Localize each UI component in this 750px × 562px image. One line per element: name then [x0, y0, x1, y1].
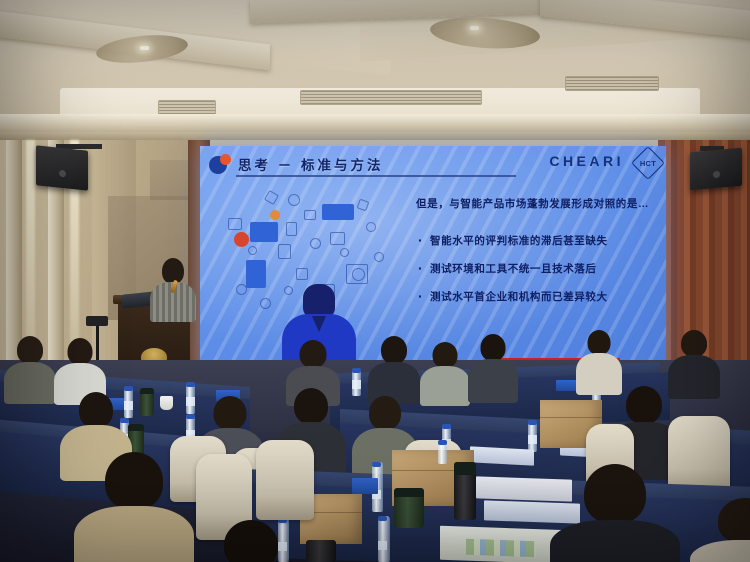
- water-bottle: [528, 420, 537, 452]
- attendee-head: [481, 334, 506, 361]
- attendee-head: [214, 396, 247, 430]
- attendee: [4, 336, 56, 398]
- attendee: [368, 336, 420, 398]
- thermos: [394, 488, 424, 528]
- bottle-cap: [186, 382, 195, 387]
- air-vent: [158, 100, 216, 115]
- cart-icon: [357, 199, 370, 212]
- water-bottle: [438, 440, 447, 464]
- attendee-foreground: [550, 464, 680, 562]
- bottle-cap: [124, 386, 133, 391]
- attendee: [576, 330, 622, 390]
- air-vent: [300, 90, 482, 105]
- clock-icon: [374, 252, 384, 262]
- dot-icon: [270, 210, 280, 220]
- sensor-icon: [340, 248, 349, 257]
- attendee-head: [681, 330, 707, 357]
- name-card: [556, 380, 578, 391]
- ceiling-speaker: [36, 145, 88, 190]
- user-icon: [260, 298, 271, 309]
- person-head: [303, 284, 335, 318]
- cheari-logo-text: CHEARI: [549, 153, 624, 169]
- attendee-head: [433, 342, 458, 368]
- attendee-torso: [74, 506, 194, 562]
- slide-bullet: 测试环境和工具不统一且技术落后: [416, 262, 660, 277]
- attendee-torso: [550, 520, 680, 562]
- attendee-head: [626, 386, 662, 424]
- phone-icon: [278, 244, 291, 259]
- camera-icon: [296, 268, 308, 280]
- attendee: [468, 334, 518, 396]
- attendee-head: [588, 330, 611, 355]
- wall-light-strip: [26, 140, 35, 355]
- attendee-head: [718, 498, 750, 544]
- attendee-head: [17, 336, 43, 364]
- slide-bullet: 智能水平的评判标准的滞后甚至缺失: [416, 234, 660, 249]
- thermos-lid: [140, 388, 154, 394]
- bottle-cap: [372, 462, 381, 467]
- crown-molding: [0, 114, 750, 134]
- tea-cup: [160, 396, 173, 410]
- outlet-icon: [330, 232, 345, 245]
- handout-chart: [466, 539, 536, 557]
- attendee-foreground: [196, 520, 306, 562]
- attendee-head: [224, 520, 278, 562]
- star-icon: [264, 190, 279, 205]
- wifi-icon: [236, 284, 247, 295]
- attendee-foreground: [74, 452, 194, 562]
- remote-icon: [286, 222, 297, 236]
- attendee-head: [105, 452, 163, 510]
- bottle-label: [378, 541, 387, 550]
- attendee-head: [294, 388, 328, 424]
- router-icon: [304, 210, 316, 220]
- bottle-label: [186, 397, 195, 406]
- chair: [256, 440, 314, 520]
- wall-alcove: [150, 160, 190, 200]
- washer-drum-icon: [352, 268, 365, 281]
- bottle-cap: [378, 516, 387, 521]
- bottle-cap: [442, 424, 451, 429]
- bottle-cap: [438, 440, 447, 445]
- ceiling-light: [470, 26, 479, 30]
- air-vent: [565, 76, 659, 91]
- slide-logo-dot-red: [220, 154, 231, 165]
- conference-room-photo: 思考 － 标准与方法 CHEARI HCT: [0, 0, 750, 562]
- slide-lead-text: 但是，与智能产品市场蓬勃发展形成对照的是…: [416, 196, 654, 213]
- water-bottle: [186, 382, 195, 414]
- attendee-head: [381, 336, 407, 364]
- attendee-head: [369, 396, 401, 430]
- hct-label: HCT: [636, 151, 660, 175]
- ceiling: [0, 0, 750, 150]
- slide-title: 思考 － 标准与方法: [238, 154, 384, 174]
- bottle-cap: [186, 414, 195, 419]
- refrigerator-icon: [246, 260, 266, 288]
- name-card: [352, 478, 378, 494]
- bottle-cap: [528, 420, 537, 425]
- bulb-icon: [310, 238, 321, 249]
- attendee: [668, 330, 720, 392]
- bottle-label: [352, 380, 361, 389]
- equipment-head: [86, 316, 108, 326]
- thermos-lid: [454, 462, 476, 475]
- attendee-head: [300, 340, 327, 368]
- slide-bullet-list: 智能水平的评判标准的滞后甚至缺失 测试环境和工具不统一且技术落后 测试水平首企业…: [416, 234, 660, 318]
- slide-bullet: 测试水平首企业和机构而已差异较大: [416, 290, 660, 305]
- thermos: [140, 388, 154, 416]
- doc-icon: [228, 218, 242, 230]
- attendee-torso: [420, 366, 470, 406]
- slide-title-underline: [236, 175, 516, 177]
- box-seam: [540, 417, 602, 418]
- attendee-head: [584, 464, 646, 524]
- lock-icon: [248, 246, 257, 255]
- air-conditioner-icon: [322, 204, 354, 220]
- search-icon: [288, 194, 300, 206]
- water-bottle: [352, 368, 361, 396]
- gear-icon: [234, 232, 249, 247]
- thermos-lid: [394, 488, 424, 497]
- ceiling-light: [140, 46, 149, 50]
- water-bottle: [378, 516, 390, 562]
- attendee-torso: [468, 359, 518, 403]
- attendee-torso: [4, 362, 56, 404]
- thermos: [454, 462, 476, 520]
- attendee: [420, 342, 470, 400]
- attendee-head: [68, 338, 93, 365]
- attendee-head: [79, 392, 113, 428]
- hct-diamond-icon: HCT: [636, 151, 660, 175]
- attendee: [54, 338, 106, 398]
- cloud-icon: [366, 222, 376, 232]
- attendee-torso: [690, 540, 750, 562]
- attendee-foreground: [690, 498, 750, 562]
- bottle-label: [528, 435, 537, 444]
- bottle-cap: [352, 368, 361, 373]
- tv-icon: [250, 222, 278, 242]
- ceiling-speaker: [690, 148, 742, 191]
- document: [470, 446, 534, 465]
- thermos: [306, 540, 336, 562]
